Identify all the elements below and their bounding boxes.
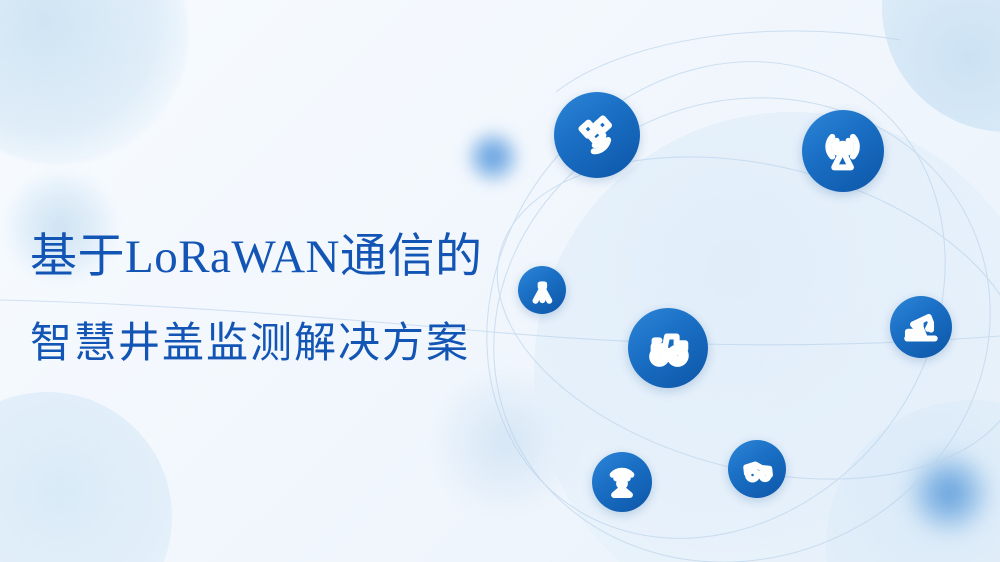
node-tractor[interactable] <box>628 308 708 388</box>
decorative-blob-top-right <box>882 0 1000 132</box>
node-satellite[interactable] <box>554 92 640 178</box>
tractor-icon <box>644 324 692 372</box>
orbit-line-5 <box>556 31 900 92</box>
decorative-sphere-bottom-right <box>826 400 1000 562</box>
node-oil-pumpjack[interactable] <box>890 296 952 358</box>
slide-title: 基于LoRaWAN通信的 智慧井盖监测解决方案 <box>30 226 570 374</box>
radio-tower-icon <box>818 126 867 175</box>
title-line-secondary: 智慧井盖监测解决方案 <box>30 312 570 374</box>
node-radio-tower[interactable] <box>802 110 884 192</box>
title-line-primary: 基于LoRaWAN通信的 <box>30 226 570 288</box>
decorative-bubble-top-left <box>0 0 188 164</box>
accent-dot-lower <box>908 452 990 534</box>
presentation-slide: 基于LoRaWAN通信的 智慧井盖监测解决方案 <box>0 0 1000 562</box>
oil-pumpjack-icon <box>902 308 939 345</box>
node-harvester[interactable] <box>728 440 786 498</box>
wireless-beacon-icon <box>604 464 640 500</box>
accent-dot-upper <box>466 130 520 184</box>
satellite-signal-icon <box>571 109 623 161</box>
decorative-sphere-bottom-left <box>0 392 172 562</box>
decorative-bubble-mid-left <box>436 372 576 512</box>
harvester-icon <box>740 452 775 487</box>
node-wireless-beacon[interactable] <box>592 452 652 512</box>
